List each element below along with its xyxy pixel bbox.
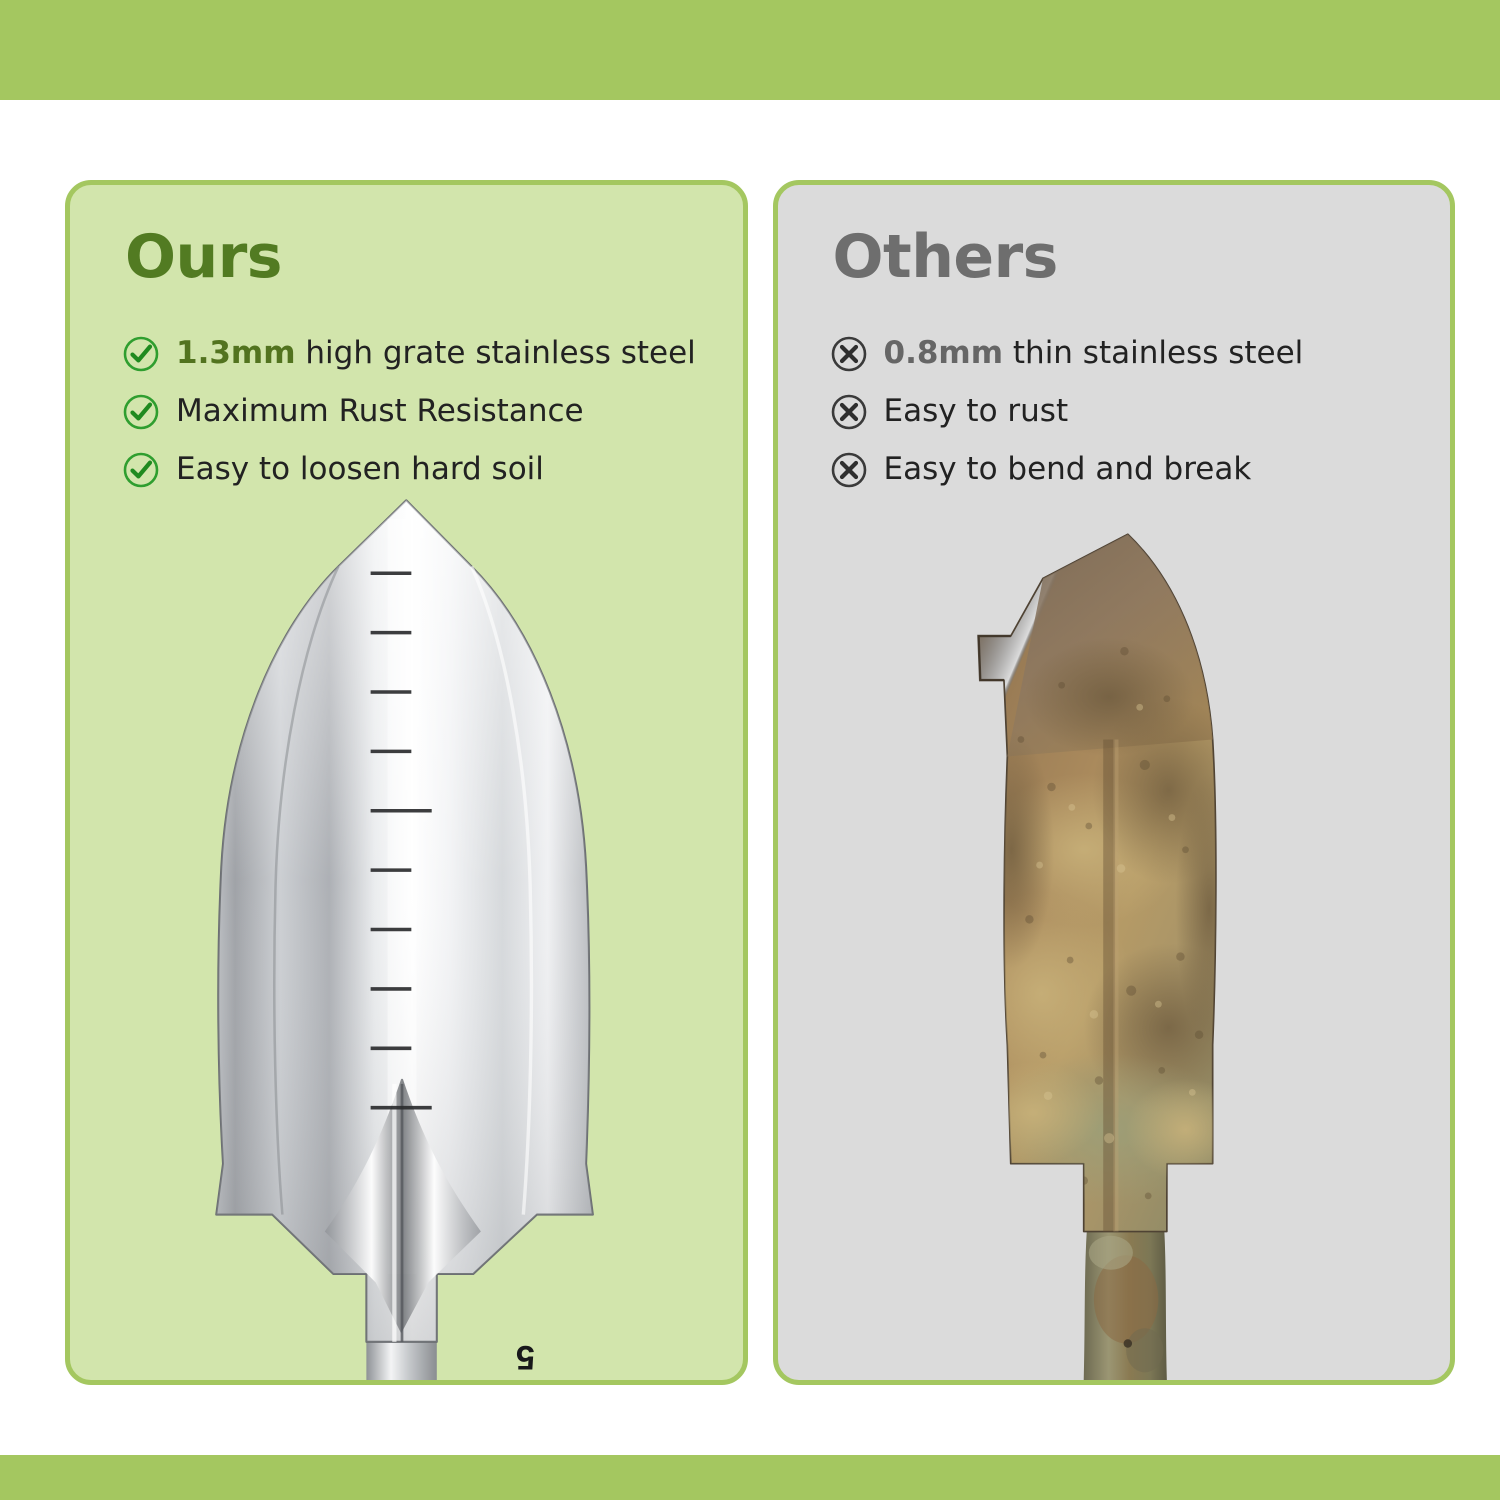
feature-list-ours: 1.3mm high grate stainless steel Maximum… [70,325,743,499]
panel-title-ours: Ours [70,227,743,287]
feature-text: 1.3mm high grate stainless steel [176,336,696,372]
feature-rest: Easy to bend and break [884,451,1252,487]
feature-rest: high grate stainless steel [296,335,696,371]
product-photo-others [778,485,1451,1380]
feature-highlight: 1.3mm [176,335,296,371]
panel-ours: Ours 1.3mm high grate stainless steel [65,180,748,1385]
feature-rest: Easy to rust [884,393,1069,429]
feature-row: Maximum Rust Resistance [122,383,743,441]
panel-others: Others 0.8mm thin stainless steel [773,180,1456,1385]
feature-rest: Maximum Rust Resistance [176,393,584,429]
feature-text: 0.8mm thin stainless steel [884,336,1304,372]
feature-text: Easy to loosen hard soil [176,452,544,488]
check-circle-icon [122,451,160,489]
feature-text: Easy to bend and break [884,452,1252,488]
feature-row: Easy to rust [830,383,1451,441]
stainless-steel-trowel-illustration [70,485,743,1380]
x-circle-icon [830,335,868,373]
feature-row: 1.3mm high grate stainless steel [122,325,743,383]
x-circle-icon [830,393,868,431]
rusted-trowel-illustration [778,485,1451,1380]
x-circle-icon [830,451,868,489]
feature-text: Maximum Rust Resistance [176,394,584,430]
panel-title-others: Others [778,227,1451,287]
top-accent-bar [0,0,1500,100]
check-circle-icon [122,393,160,431]
ruler-label-5: 5 [516,1340,535,1374]
comparison-container: Ours 1.3mm high grate stainless steel [0,100,1500,1455]
feature-text: Easy to rust [884,394,1069,430]
feature-rest: thin stainless steel [1003,335,1303,371]
bottom-accent-bar [0,1455,1500,1500]
feature-row: 0.8mm thin stainless steel [830,325,1451,383]
product-photo-ours: 5 10 [70,485,743,1380]
feature-rest: Easy to loosen hard soil [176,451,544,487]
feature-list-others: 0.8mm thin stainless steel Easy to rust [778,325,1451,499]
check-circle-icon [122,335,160,373]
feature-highlight: 0.8mm [884,335,1004,371]
